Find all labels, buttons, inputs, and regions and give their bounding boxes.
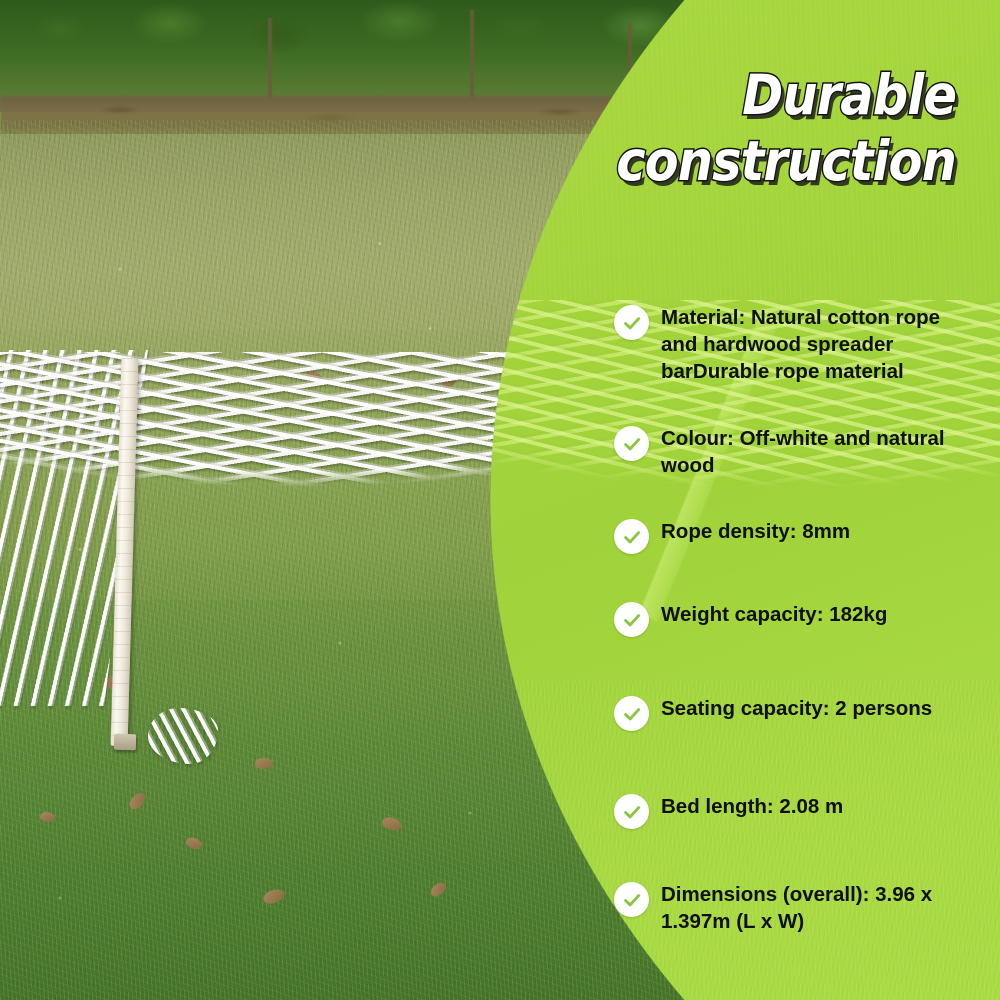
check-icon — [614, 602, 649, 637]
check-icon — [614, 519, 649, 554]
check-icon — [614, 794, 649, 829]
feature-text: Material: Natural cotton rope and hardwo… — [661, 304, 973, 385]
feature-item-colour: Colour: Off-white and natural wood — [614, 425, 973, 479]
feature-text: Weight capacity: 182kg — [661, 601, 887, 628]
feature-item-material: Material: Natural cotton rope and hardwo… — [614, 304, 973, 385]
headline-line-1: Durable — [452, 62, 956, 128]
feature-item-weight-capacity: Weight capacity: 182kg — [614, 601, 887, 637]
feature-item-dimensions: Dimensions (overall): 3.96 x 1.397m (L x… — [614, 881, 973, 935]
headline-line-2: construction — [452, 128, 956, 194]
check-icon — [614, 696, 649, 731]
check-icon — [614, 882, 649, 917]
feature-text: Bed length: 2.08 m — [661, 793, 843, 820]
headline-title: Durable construction — [452, 62, 956, 194]
feature-text: Colour: Off-white and natural wood — [661, 425, 973, 479]
feature-text: Seating capacity: 2 persons — [661, 695, 932, 722]
feature-item-rope-density: Rope density: 8mm — [614, 518, 850, 554]
check-icon — [614, 426, 649, 461]
product-infographic: Durable construction Material: Natural c… — [0, 0, 1000, 1000]
check-icon — [614, 305, 649, 340]
feature-item-seating-capacity: Seating capacity: 2 persons — [614, 695, 932, 731]
feature-text: Dimensions (overall): 3.96 x 1.397m (L x… — [661, 881, 973, 935]
feature-text: Rope density: 8mm — [661, 518, 850, 545]
feature-item-bed-length: Bed length: 2.08 m — [614, 793, 843, 829]
